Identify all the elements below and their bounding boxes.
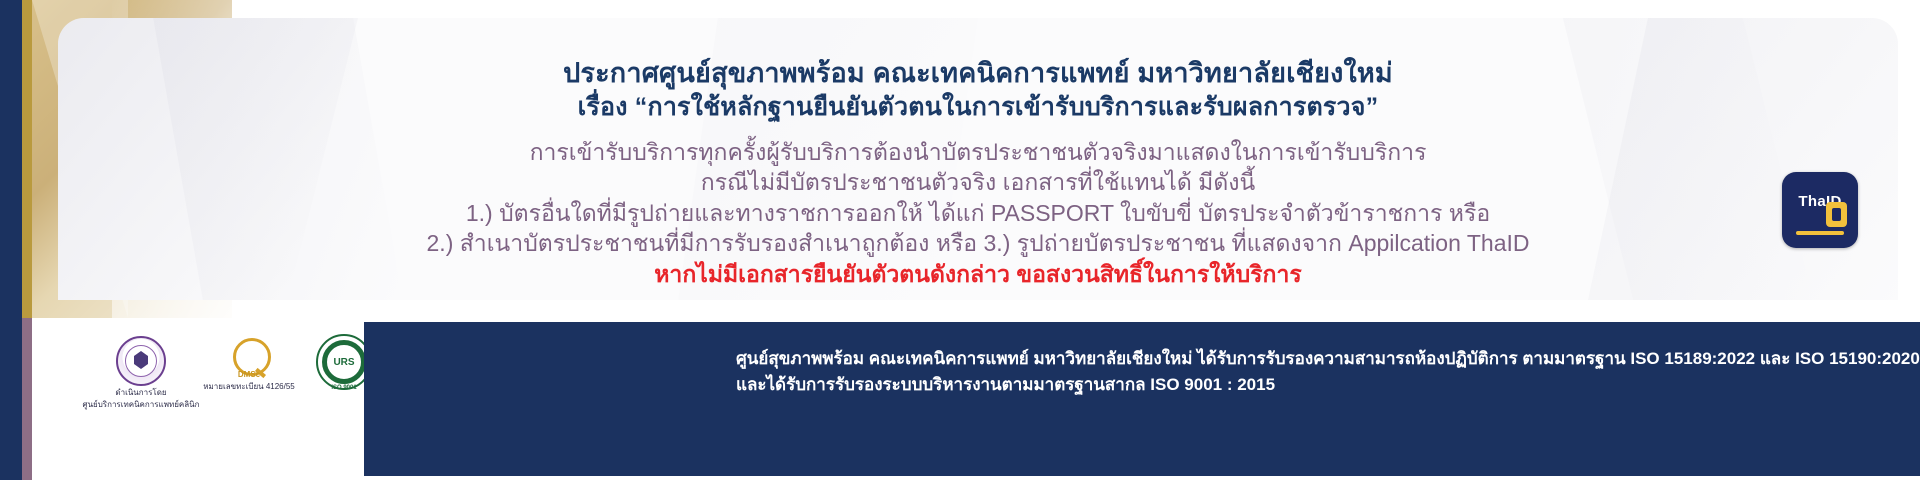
logo-caption-line-1: ดำเนินการโดย (82, 388, 200, 398)
thaid-logo: ThaID (1782, 172, 1858, 248)
footer-logo-panel: ดำเนินการโดย ศูนย์บริการเทคนิคการแพทย์คล… (32, 318, 364, 480)
certification-logo-department-medical-sciences-seal: ดำเนินการโดย ศูนย์บริการเทคนิคการแพทย์คล… (82, 336, 200, 410)
logo-registration-number: หมายเลขทะเบียน 4126/55 (200, 382, 298, 392)
footer-accreditation-text: ศูนย์สุขภาพพร้อม คณะเทคนิคการแพทย์ มหาวิ… (736, 346, 1920, 399)
footer-text-line-1: ศูนย์สุขภาพพร้อม คณะเทคนิคการแพทย์ มหาวิ… (736, 346, 1920, 372)
logo-caption-line-2: ศูนย์บริการเทคนิคการแพทย์คลินิก (82, 400, 200, 410)
left-edge-plum-bar (22, 318, 32, 480)
announcement-card: ประกาศศูนย์สุขภาพพร้อม คณะเทคนิคการแพทย์… (58, 18, 1898, 300)
dmsc-quality-icon: DMSc (227, 336, 271, 380)
urs-iso-label: ISO 9001 (318, 385, 370, 391)
dmsc-mark-label: DMSc (227, 370, 271, 379)
announcement-body-line-1: การเข้ารับบริการทุกครั้งผู้รับบริการต้อง… (58, 137, 1898, 168)
announcement-title-line-1: ประกาศศูนย์สุขภาพพร้อม คณะเทคนิคการแพทย์… (58, 56, 1898, 91)
footer: ดำเนินการโดย ศูนย์บริการเทคนิคการแพทย์คล… (32, 318, 1920, 480)
certification-logo-dmsc-quality-seal: DMSc หมายเลขทะเบียน 4126/55 (200, 336, 298, 392)
footer-blue-panel: ศูนย์สุขภาพพร้อม คณะเทคนิคการแพทย์ มหาวิ… (364, 322, 1920, 476)
urs-mark-label: URS (330, 348, 358, 376)
certification-logo-group: ดำเนินการโดย ศูนย์บริการเทคนิคการแพทย์คล… (82, 332, 362, 462)
announcement-banner: ประกาศศูนย์สุขภาพพร้อม คณะเทคนิคการแพทย์… (0, 0, 1920, 480)
announcement-body-line-2: กรณีไม่มีบัตรประชาชนตัวจริง เอกสารที่ใช้… (58, 167, 1898, 198)
left-edge-navy-bar (0, 0, 22, 480)
announcement-title-line-2: เรื่อง “การใช้หลักฐานยืนยันตัวตนในการเข้… (58, 91, 1898, 123)
announcement-body-line-4: 2.) สำเนาบัตรประชาชนที่มีการรับรองสำเนาถ… (58, 228, 1898, 259)
announcement-text-block: ประกาศศูนย์สุขภาพพร้อม คณะเทคนิคการแพทย์… (58, 56, 1898, 289)
announcement-warning-line: หากไม่มีเอกสารยืนยันตัวตนดังกล่าว ขอสงวน… (58, 259, 1898, 290)
announcement-body-line-3: 1.) บัตรอื่นใดที่มีรูปถ่ายและทางราชการออ… (58, 198, 1898, 229)
medical-seal-icon (116, 336, 166, 386)
footer-text-line-2: และได้รับการรับรองระบบบริหารงานตามมาตรฐา… (736, 372, 1920, 398)
thaid-card-icon (1826, 202, 1847, 227)
left-edge-gold-bar (22, 0, 32, 318)
thaid-underline-bar (1796, 231, 1844, 235)
